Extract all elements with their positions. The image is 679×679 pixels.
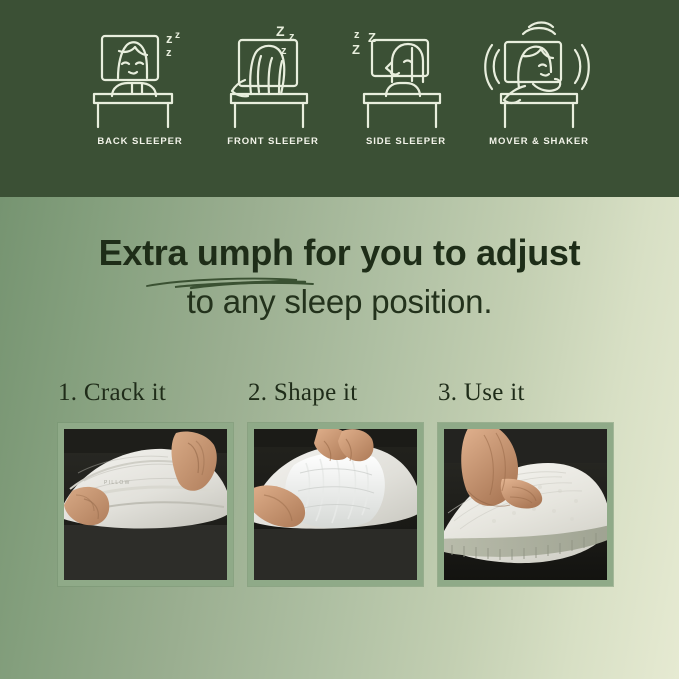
photo-frame-3 xyxy=(438,423,613,586)
sleeper-item-front: Z z z FRONT SLEEPER xyxy=(207,18,340,147)
front-sleeper-icon: Z z z xyxy=(213,18,333,130)
sleeper-item-back: z z z BACK SLEEPER xyxy=(74,18,207,147)
svg-text:P I L L O W: P I L L O W xyxy=(104,480,130,486)
svg-text:z: z xyxy=(166,31,173,46)
photo-use-it xyxy=(444,429,607,580)
sleeper-label-front: FRONT SLEEPER xyxy=(227,136,318,147)
sleeper-label-back: BACK SLEEPER xyxy=(97,136,182,147)
svg-text:z: z xyxy=(354,29,360,41)
step-label-1: 1. Crack it xyxy=(58,378,248,408)
steps-section: 1. Crack it xyxy=(0,378,679,608)
svg-text:z: z xyxy=(289,31,295,43)
back-sleeper-icon: z z z xyxy=(80,18,200,130)
sleeper-label-side: SIDE SLEEPER xyxy=(366,136,446,147)
headline-block: Extra umph for you to adjust to any slee… xyxy=(0,232,679,321)
svg-text:Z: Z xyxy=(368,30,376,45)
step-label-3: 3. Use it xyxy=(438,378,628,408)
sleeper-item-side: z Z Z SIDE SLEEPER xyxy=(340,18,473,147)
photo-shape-it xyxy=(254,429,417,580)
svg-text:z: z xyxy=(175,30,180,41)
sleep-position-banner: z z z BACK SLEEPER xyxy=(0,0,679,197)
headline-line-2: to any sleep position. xyxy=(0,283,679,321)
headline-line-1: Extra umph for you to adjust xyxy=(0,232,679,274)
mover-shaker-icon xyxy=(479,18,599,130)
svg-text:Z: Z xyxy=(352,42,360,57)
photo-crack-it: P I L L O W xyxy=(64,429,227,580)
svg-text:z: z xyxy=(281,45,287,57)
svg-text:z: z xyxy=(166,47,172,59)
sleeper-label-mover: MOVER & SHAKER xyxy=(489,136,589,147)
svg-text:Z: Z xyxy=(276,23,285,39)
photo-frame-1: P I L L O W xyxy=(58,423,233,586)
step-label-2: 2. Shape it xyxy=(248,378,438,408)
photo-frame-2 xyxy=(248,423,423,586)
step-item-2: 2. Shape it xyxy=(248,378,438,408)
sleeper-icon-row: z z z BACK SLEEPER xyxy=(0,0,679,197)
step-item-3: 3. Use it xyxy=(438,378,628,408)
step-item-1: 1. Crack it xyxy=(58,378,248,408)
infographic-page: z z z BACK SLEEPER xyxy=(0,0,679,679)
sleeper-item-mover: MOVER & SHAKER xyxy=(473,18,606,147)
side-sleeper-icon: z Z Z xyxy=(346,18,466,130)
